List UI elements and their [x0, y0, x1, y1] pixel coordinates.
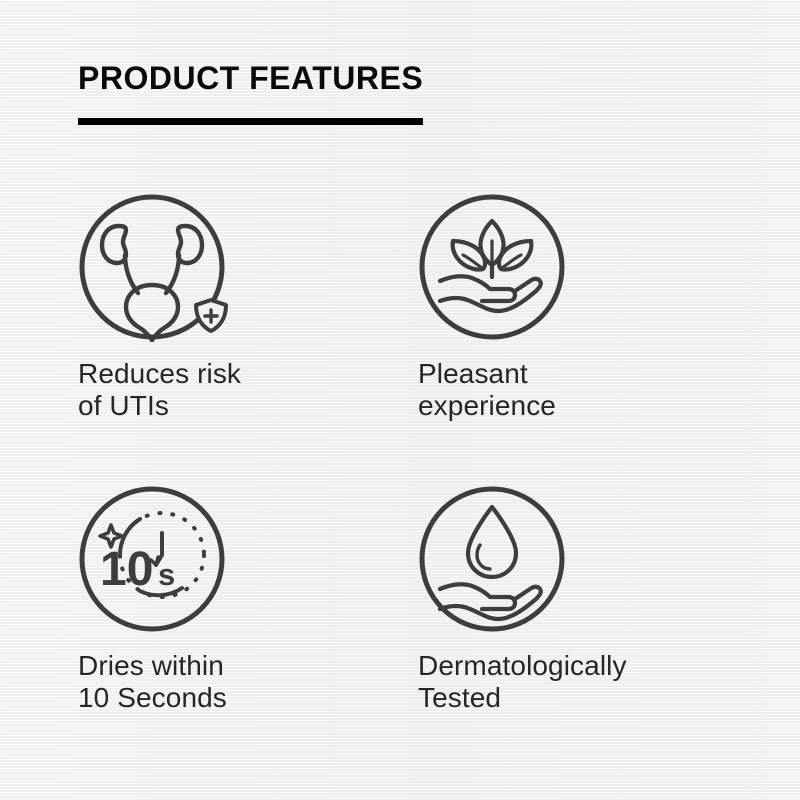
clock-value-text: 10 [100, 543, 153, 596]
feature-label: Dermatologically Tested [418, 650, 738, 715]
page-title: PRODUCT FEATURES [78, 62, 423, 94]
features-grid: Reduces risk of UTIs [78, 193, 738, 715]
ten-seconds-clock-icon: 10 s [78, 485, 226, 633]
feature-label: Dries within 10 Seconds [78, 650, 418, 715]
clock-unit-text: s [158, 557, 175, 592]
header: PRODUCT FEATURES [78, 62, 423, 125]
urinary-tract-shield-icon [78, 193, 226, 341]
feature-label: Reduces risk of UTIs [78, 358, 418, 423]
product-features-page: PRODUCT FEATURES [0, 0, 800, 800]
feature-item-uti: Reduces risk of UTIs [78, 193, 418, 423]
title-underline-rule [78, 118, 423, 125]
feature-item-derm-tested: Dermatologically Tested [418, 485, 738, 715]
feature-item-drying-time: 10 s Dries within 10 Seconds [78, 485, 418, 715]
hand-holding-plant-icon [418, 193, 566, 341]
feature-label: Pleasant experience [418, 358, 738, 423]
hand-holding-droplet-icon [418, 485, 566, 633]
feature-item-pleasant: Pleasant experience [418, 193, 738, 423]
